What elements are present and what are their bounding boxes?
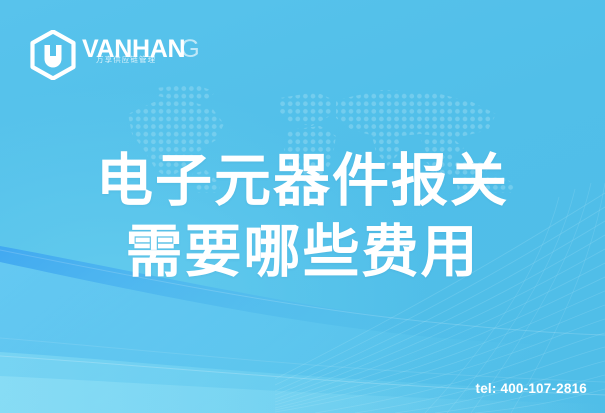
hexagon-u-logo-icon xyxy=(30,30,76,80)
headline-line-1: 电子元器件报关 xyxy=(0,146,605,217)
logo-wordmark-tail: G xyxy=(180,35,199,63)
headline-line-2: 需要哪些费用 xyxy=(0,217,605,288)
page-title: 电子元器件报关 需要哪些费用 xyxy=(0,146,605,288)
logo-subtitle: 万享供应链管理 xyxy=(96,56,156,64)
contact-phone[interactable]: tel: 400-107-2816 xyxy=(476,381,587,396)
brand-logo[interactable]: VANHANG 万享供应链管理 xyxy=(30,29,82,81)
promo-banner: VANHANG 万享供应链管理 电子元器件报关 需要哪些费用 tel: 400-… xyxy=(0,0,605,413)
